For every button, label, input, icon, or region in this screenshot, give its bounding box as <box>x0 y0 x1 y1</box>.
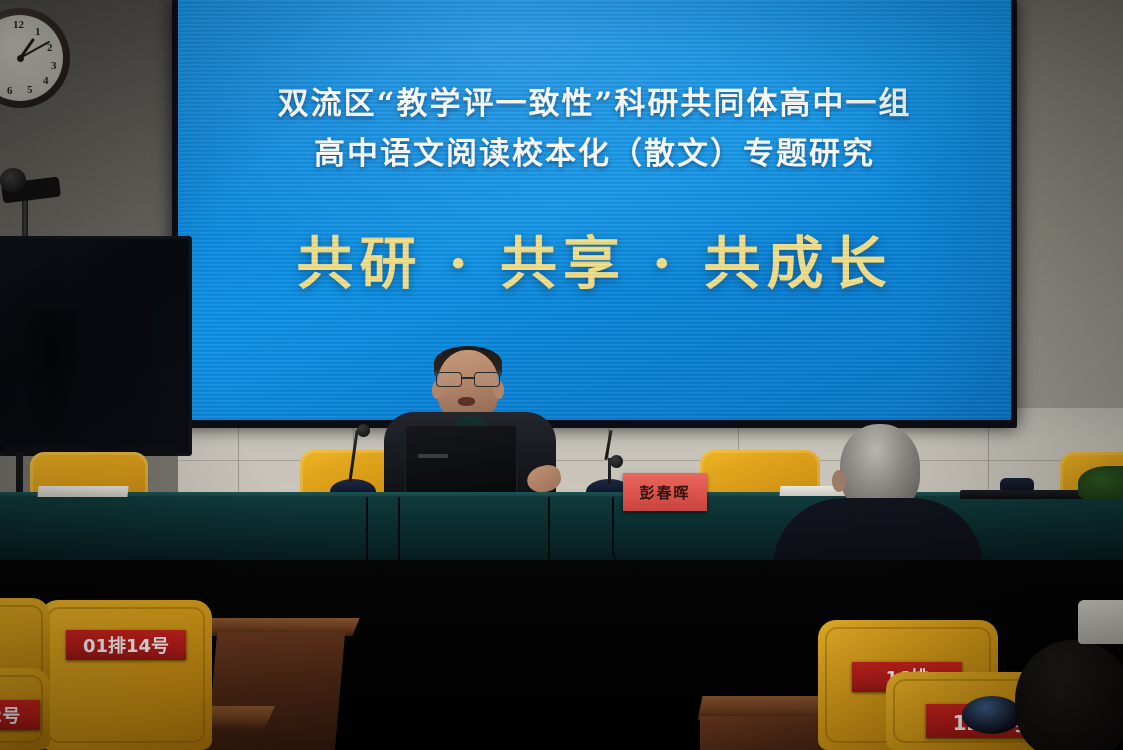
potted-plant-leaves <box>1078 466 1123 500</box>
clock-numeral-1: 1 <box>35 26 41 38</box>
flat-screen-tv <box>0 236 192 456</box>
name-placard-label: 彭春晖 <box>639 482 690 503</box>
clock-numeral-2: 2 <box>47 42 53 54</box>
chair-row01-seat14 <box>40 600 212 750</box>
seat-tag-2: 2号 <box>0 700 40 730</box>
name-placard: 彭春晖 <box>623 473 707 511</box>
led-scanline-texture <box>178 0 1011 420</box>
seat-tag-01-14: 01排14号 <box>66 630 186 660</box>
clock-numeral-4: 4 <box>43 75 49 87</box>
slide-main-heading: 共研 · 共享 · 共成长 <box>178 218 1011 300</box>
seat-tag-label: 2号 <box>0 702 20 728</box>
slide-title-line-2: 高中语文阅读校本化（散文）专题研究 <box>178 128 1011 173</box>
clock-numeral-5: 5 <box>27 84 33 96</box>
clock-center-pin <box>17 55 24 62</box>
microphone-head-left <box>357 424 370 437</box>
laptop <box>405 425 517 497</box>
clock-numeral-12: 12 <box>13 19 24 31</box>
microphone-head-right <box>610 455 623 468</box>
presenter-glasses <box>436 372 500 385</box>
slide-title-line-1: 双流区“教学评一致性”科研共同体高中一组 <box>178 78 1011 123</box>
video-camera-lens-icon <box>0 168 26 192</box>
led-display-screen: 双流区“教学评一致性”科研共同体高中一组 高中语文阅读校本化（散文）专题研究 共… <box>178 0 1011 420</box>
paper-cup <box>1078 600 1123 644</box>
tv-screen-reflection <box>19 309 85 459</box>
desk-body-left <box>207 632 345 750</box>
laptop-logo <box>418 454 448 458</box>
seat-tag-label: 01排14号 <box>83 632 169 658</box>
led-display-bezel: 双流区“教学评一致性”科研共同体高中一组 高中语文阅读校本化（散文）专题研究 共… <box>172 0 1017 428</box>
paper-sheet-left <box>37 486 128 497</box>
dark-object-on-desk <box>962 696 1022 734</box>
clock-numeral-6: 6 <box>7 85 13 97</box>
clock-numeral-3: 3 <box>51 60 57 72</box>
audience-member-ear <box>832 470 846 492</box>
wall-clock: 12 1 2 3 4 5 6 <box>0 8 70 108</box>
presenter-mouth <box>458 397 475 406</box>
conference-room-photo: 12 1 2 3 4 5 6 双流区“教学评一致性”科研共同体高中一组 高中语文… <box>0 0 1123 750</box>
